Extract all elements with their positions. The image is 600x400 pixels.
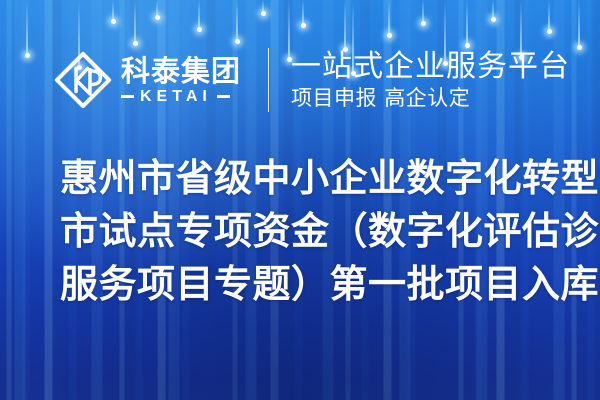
meteor-streak-icon [112, 0, 114, 22]
brand-name-en-row: KETAI [121, 89, 241, 105]
brand-name-en: KETAI [134, 89, 217, 105]
wordmark-dash-right [217, 95, 230, 98]
wordmark-dash-left [121, 95, 134, 98]
ketai-kp-diamond-logo-icon [54, 51, 112, 109]
header-divider [268, 48, 269, 112]
brand-logo: 科泰集团 KETAI [54, 51, 241, 109]
meteor-streak-icon [388, 0, 390, 36]
promo-banner: 科泰集团 KETAI 一站式企业服务平台 项目申报 高企认定 惠州市省级中小企业… [0, 0, 600, 400]
tagline-block: 一站式企业服务平台 项目申报 高企认定 [291, 50, 570, 111]
meteor-streak-icon [156, 0, 158, 18]
banner-header-row: 科泰集团 KETAI 一站式企业服务平台 项目申报 高企认定 [0, 44, 600, 116]
headline-line-3: 服务项目专题）第一批项目入库安 [60, 258, 576, 311]
meteor-streak-icon [548, 0, 550, 32]
meteor-streak-icon [134, 0, 136, 44]
meteor-streak-icon [236, 0, 238, 42]
meteor-streak-icon [198, 0, 200, 30]
meteor-streak-icon [492, 0, 494, 20]
meteor-streak-icon [422, 0, 424, 24]
meteor-streak-icon [578, 0, 580, 48]
brand-name-cn: 科泰集团 [121, 56, 241, 86]
headline-title: 惠州市省级中小企业数字化转型城 市试点专项资金（数字化评估诊断 服务项目专题）第… [60, 152, 576, 311]
meteor-streak-icon [466, 0, 468, 46]
brand-wordmark: 科泰集团 KETAI [121, 56, 241, 105]
meteor-streak-icon [262, 0, 264, 14]
meteor-streak-icon [302, 0, 304, 26]
tagline-primary: 一站式企业服务平台 [291, 50, 570, 83]
headline-line-2: 市试点专项资金（数字化评估诊断 [60, 205, 576, 258]
meteor-streak-icon [344, 0, 346, 50]
tagline-secondary: 项目申报 高企认定 [291, 86, 570, 111]
headline-line-1: 惠州市省级中小企业数字化转型城 [60, 152, 576, 205]
